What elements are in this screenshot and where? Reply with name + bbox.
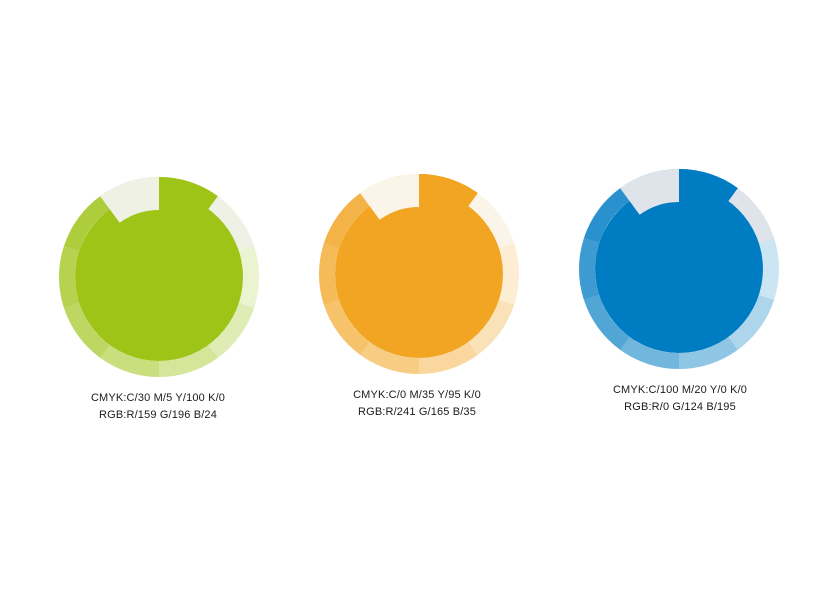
- color-wheel-svg-orange: [319, 174, 519, 374]
- color-swatch-green: CMYK:C/30 M/5 Y/100 K/0RGB:R/159 G/196 B…: [29, 177, 289, 424]
- color-spec-block-orange: CMYK:C/0 M/35 Y/95 K/0RGB:R/241 G/165 B/…: [353, 387, 481, 421]
- color-wheel-svg-blue: [579, 169, 779, 369]
- cmyk-spec-label: CMYK:C/0 M/35 Y/95 K/0: [353, 387, 481, 404]
- color-swatch-orange: CMYK:C/0 M/35 Y/95 K/0RGB:R/241 G/165 B/…: [289, 174, 549, 421]
- cmyk-spec-label: CMYK:C/30 M/5 Y/100 K/0: [91, 390, 225, 407]
- color-wheel-orange: [319, 174, 519, 374]
- color-spec-block-blue: CMYK:C/100 M/20 Y/0 K/0RGB:R/0 G/124 B/1…: [613, 382, 747, 416]
- color-wheel-green: [59, 177, 259, 377]
- rgb-spec-label: RGB:R/159 G/196 B/24: [91, 407, 225, 424]
- rgb-spec-label: RGB:R/0 G/124 B/195: [613, 399, 747, 416]
- color-spec-block-green: CMYK:C/30 M/5 Y/100 K/0RGB:R/159 G/196 B…: [91, 390, 225, 424]
- color-swatch-blue: CMYK:C/100 M/20 Y/0 K/0RGB:R/0 G/124 B/1…: [549, 169, 809, 416]
- cmyk-spec-label: CMYK:C/100 M/20 Y/0 K/0: [613, 382, 747, 399]
- color-wheel-svg-green: [59, 177, 259, 377]
- color-wheel-blue: [579, 169, 779, 369]
- rgb-spec-label: RGB:R/241 G/165 B/35: [353, 404, 481, 421]
- color-swatch-board: CMYK:C/30 M/5 Y/100 K/0RGB:R/159 G/196 B…: [0, 0, 838, 597]
